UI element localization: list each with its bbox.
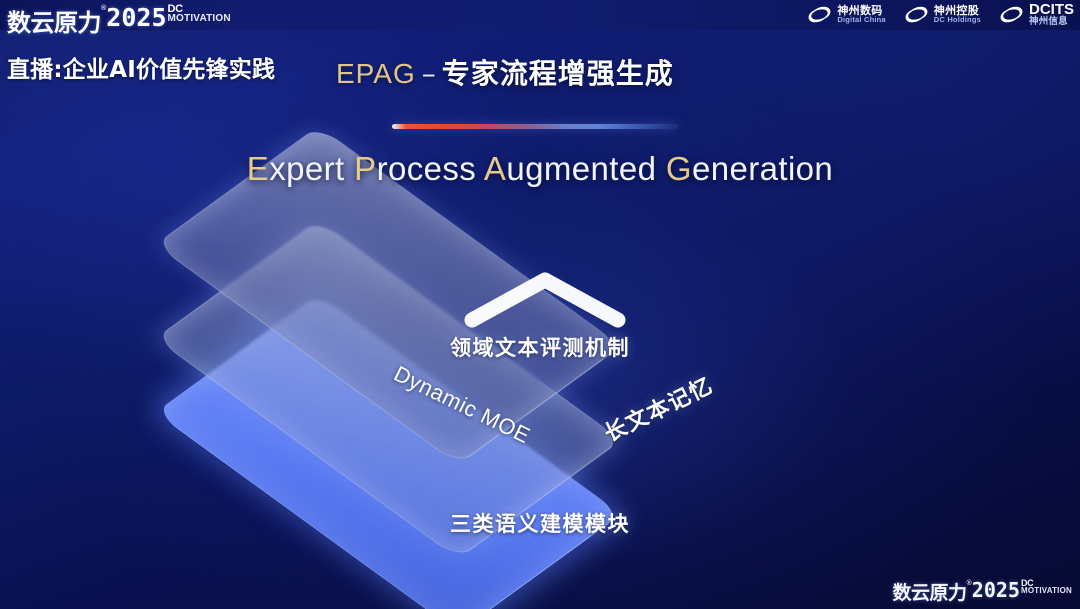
headline-capital: E — [247, 150, 269, 187]
layer-label-bottom: 三类语义建模模块 — [0, 508, 1080, 538]
headline-capital: G — [666, 150, 692, 187]
partner-name-en: Digital China — [837, 16, 885, 24]
layer-label-long-text-memory: 长文本记忆 — [579, 359, 737, 458]
partner-name-en: 神州信息 — [1029, 17, 1074, 27]
slide-title-abbr: EPAG — [336, 58, 416, 89]
slide-title-dash: – — [416, 57, 442, 90]
chevron-up-icon — [460, 264, 630, 334]
headline-capital: A — [484, 150, 506, 187]
event-logo-motivation: MOTIVATION — [168, 14, 231, 23]
headline-segment: eneration — [692, 150, 833, 187]
swirl-icon — [807, 2, 832, 27]
partner-logo-dcits: DCITS 神州信息 — [999, 2, 1074, 27]
slide-title-cn: 专家流程增强生成 — [442, 57, 674, 90]
slide-canvas: 数云原力 ® 2025 DC MOTIVATION 神州数码 Digital C… — [0, 0, 1080, 609]
headline-segment: rocess — [377, 150, 484, 187]
watermark-cn: 数云原力 — [892, 578, 966, 605]
slide-title: EPAG–专家流程增强生成 — [336, 52, 674, 92]
event-logo: 数云原力 ® 2025 DC MOTIVATION — [7, 3, 231, 38]
gradient-divider — [392, 124, 678, 129]
layer-label-top: 领域文本评测机制 — [0, 332, 1080, 362]
headline-segment: ugmented — [506, 150, 666, 187]
partner-logo-dc-holdings: 神州控股 DC Holdings — [904, 2, 981, 27]
partner-logo-digital-china: 神州数码 Digital China — [807, 2, 885, 27]
headline-capital: P — [354, 150, 376, 187]
partner-logo-row: 神州数码 Digital China 神州控股 DC Holdings DCIT… — [807, 2, 1074, 27]
partner-name-cn: DCITS — [1029, 2, 1074, 17]
headline-segment: xpert — [269, 150, 354, 187]
watermark-year: 2025 — [972, 578, 1020, 602]
partner-name-en: DC Holdings — [934, 16, 981, 24]
watermark-logo: 数云原力 ® 2025 DC MOTIVATION — [892, 578, 1072, 605]
swirl-icon — [999, 2, 1024, 27]
event-logo-cn: 数云原力 — [7, 3, 101, 38]
swirl-icon — [904, 2, 929, 27]
watermark-motivation: MOTIVATION — [1021, 587, 1072, 594]
headline-english: Expert Process Augmented Generation — [0, 150, 1080, 188]
event-logo-year: 2025 — [106, 3, 166, 32]
live-stream-label: 直播:企业AI价值先锋实践 — [7, 50, 275, 84]
